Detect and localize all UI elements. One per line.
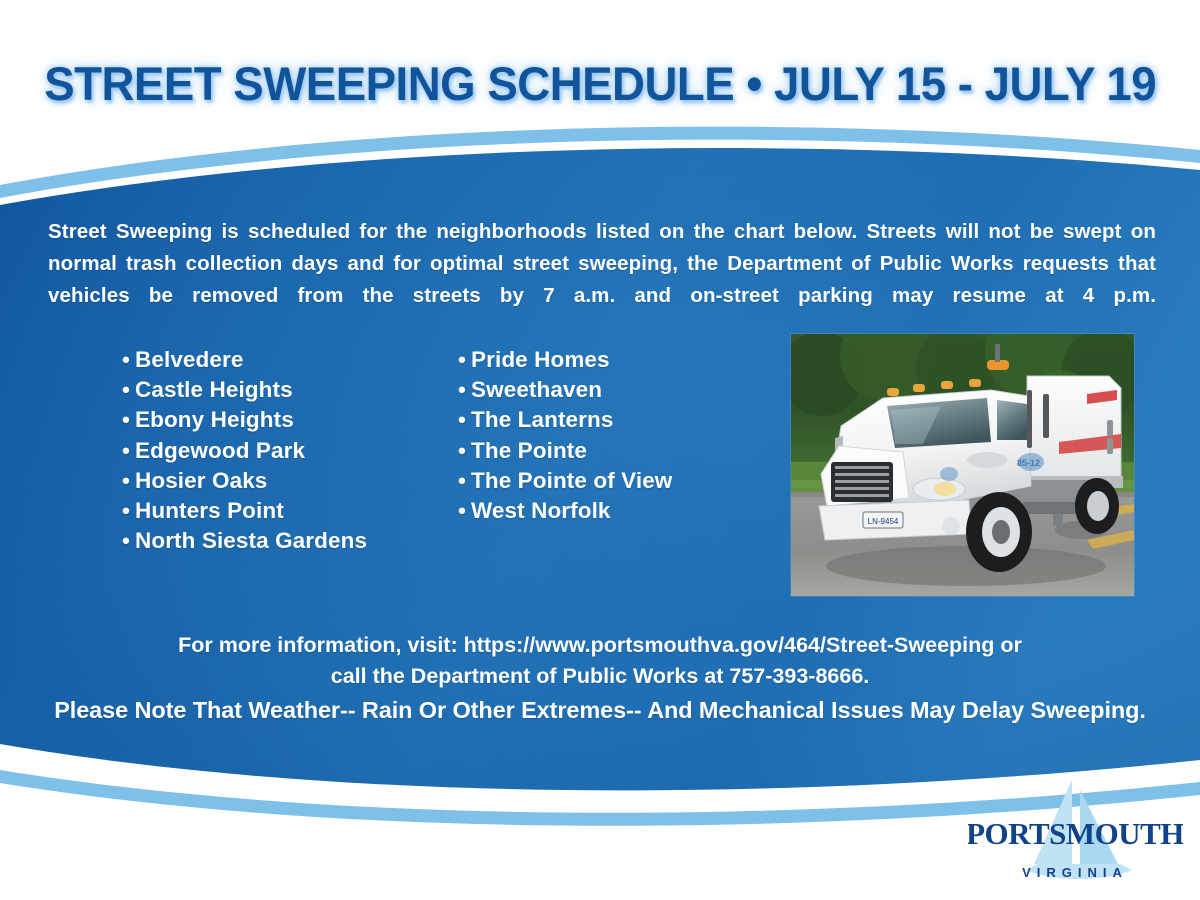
bullet-icon: • (458, 496, 471, 526)
neighborhood-list-left: •Belvedere •Castle Heights •Ebony Height… (122, 345, 367, 556)
neighborhood-label: West Norfolk (471, 498, 611, 523)
neighborhood-label: Edgewood Park (135, 438, 305, 463)
footer-text-block: For more information, visit: https://www… (0, 630, 1200, 726)
bullet-icon: • (458, 405, 471, 435)
footer-line-note: Please Note That Weather-- Rain Or Other… (0, 695, 1200, 726)
neighborhood-label: The Pointe (471, 438, 587, 463)
neighborhood-label: Hosier Oaks (135, 468, 267, 493)
bullet-icon: • (122, 496, 135, 526)
list-item: •North Siesta Gardens (122, 526, 367, 556)
bullet-icon: • (122, 436, 135, 466)
list-item: •Sweethaven (458, 375, 672, 405)
neighborhood-label: The Pointe of View (471, 468, 672, 493)
neighborhood-label: Castle Heights (135, 377, 293, 402)
page-title: STREET SWEEPING SCHEDULE • JULY 15 - JUL… (44, 56, 1156, 111)
poster-canvas: STREET SWEEPING SCHEDULE • JULY 15 - JUL… (0, 0, 1200, 900)
neighborhood-list-right: •Pride Homes •Sweethaven •The Lanterns •… (458, 345, 672, 526)
neighborhood-label: Sweethaven (471, 377, 602, 402)
neighborhood-label: Ebony Heights (135, 407, 294, 432)
bullet-icon: • (122, 466, 135, 496)
logo-state-text: VIRGINIA (1022, 865, 1128, 880)
list-item: •The Pointe of View (458, 466, 672, 496)
street-sweeper-truck-photo: LN-9454 85-12 (791, 334, 1134, 596)
bullet-icon: • (458, 375, 471, 405)
list-item: •Hunters Point (122, 496, 367, 526)
bullet-icon: • (122, 345, 135, 375)
list-item: •Castle Heights (122, 375, 367, 405)
footer-line-phone: call the Department of Public Works at 7… (0, 661, 1200, 692)
list-item: •The Pointe (458, 436, 672, 466)
bullet-icon: • (458, 436, 471, 466)
bullet-icon: • (122, 526, 135, 556)
list-item: •The Lanterns (458, 405, 672, 435)
svg-text:LN-9454: LN-9454 (868, 517, 899, 526)
bullet-icon: • (122, 375, 135, 405)
logo-city-text: PORTSMOUTH (968, 816, 1183, 851)
list-item: •Belvedere (122, 345, 367, 375)
neighborhood-label: North Siesta Gardens (135, 528, 367, 553)
bullet-icon: • (122, 405, 135, 435)
list-item: •Hosier Oaks (122, 466, 367, 496)
bullet-icon: • (458, 466, 471, 496)
list-item: •Pride Homes (458, 345, 672, 375)
title-bar: STREET SWEEPING SCHEDULE • JULY 15 - JUL… (0, 0, 1200, 150)
bullet-icon: • (458, 345, 471, 375)
list-item: •Ebony Heights (122, 405, 367, 435)
neighborhood-label: Belvedere (135, 347, 243, 372)
portsmouth-logo: PORTSMOUTH VIRGINIA (968, 778, 1183, 890)
truck-photo-art: LN-9454 85-12 (791, 334, 1134, 596)
neighborhood-label: Pride Homes (471, 347, 610, 372)
list-item: •West Norfolk (458, 496, 672, 526)
neighborhood-label: The Lanterns (471, 407, 613, 432)
portsmouth-logo-art: PORTSMOUTH VIRGINIA (968, 778, 1183, 890)
list-item: •Edgewood Park (122, 436, 367, 466)
footer-line-info: For more information, visit: https://www… (0, 630, 1200, 661)
neighborhood-label: Hunters Point (135, 498, 284, 523)
intro-paragraph: Street Sweeping is scheduled for the nei… (48, 216, 1156, 312)
